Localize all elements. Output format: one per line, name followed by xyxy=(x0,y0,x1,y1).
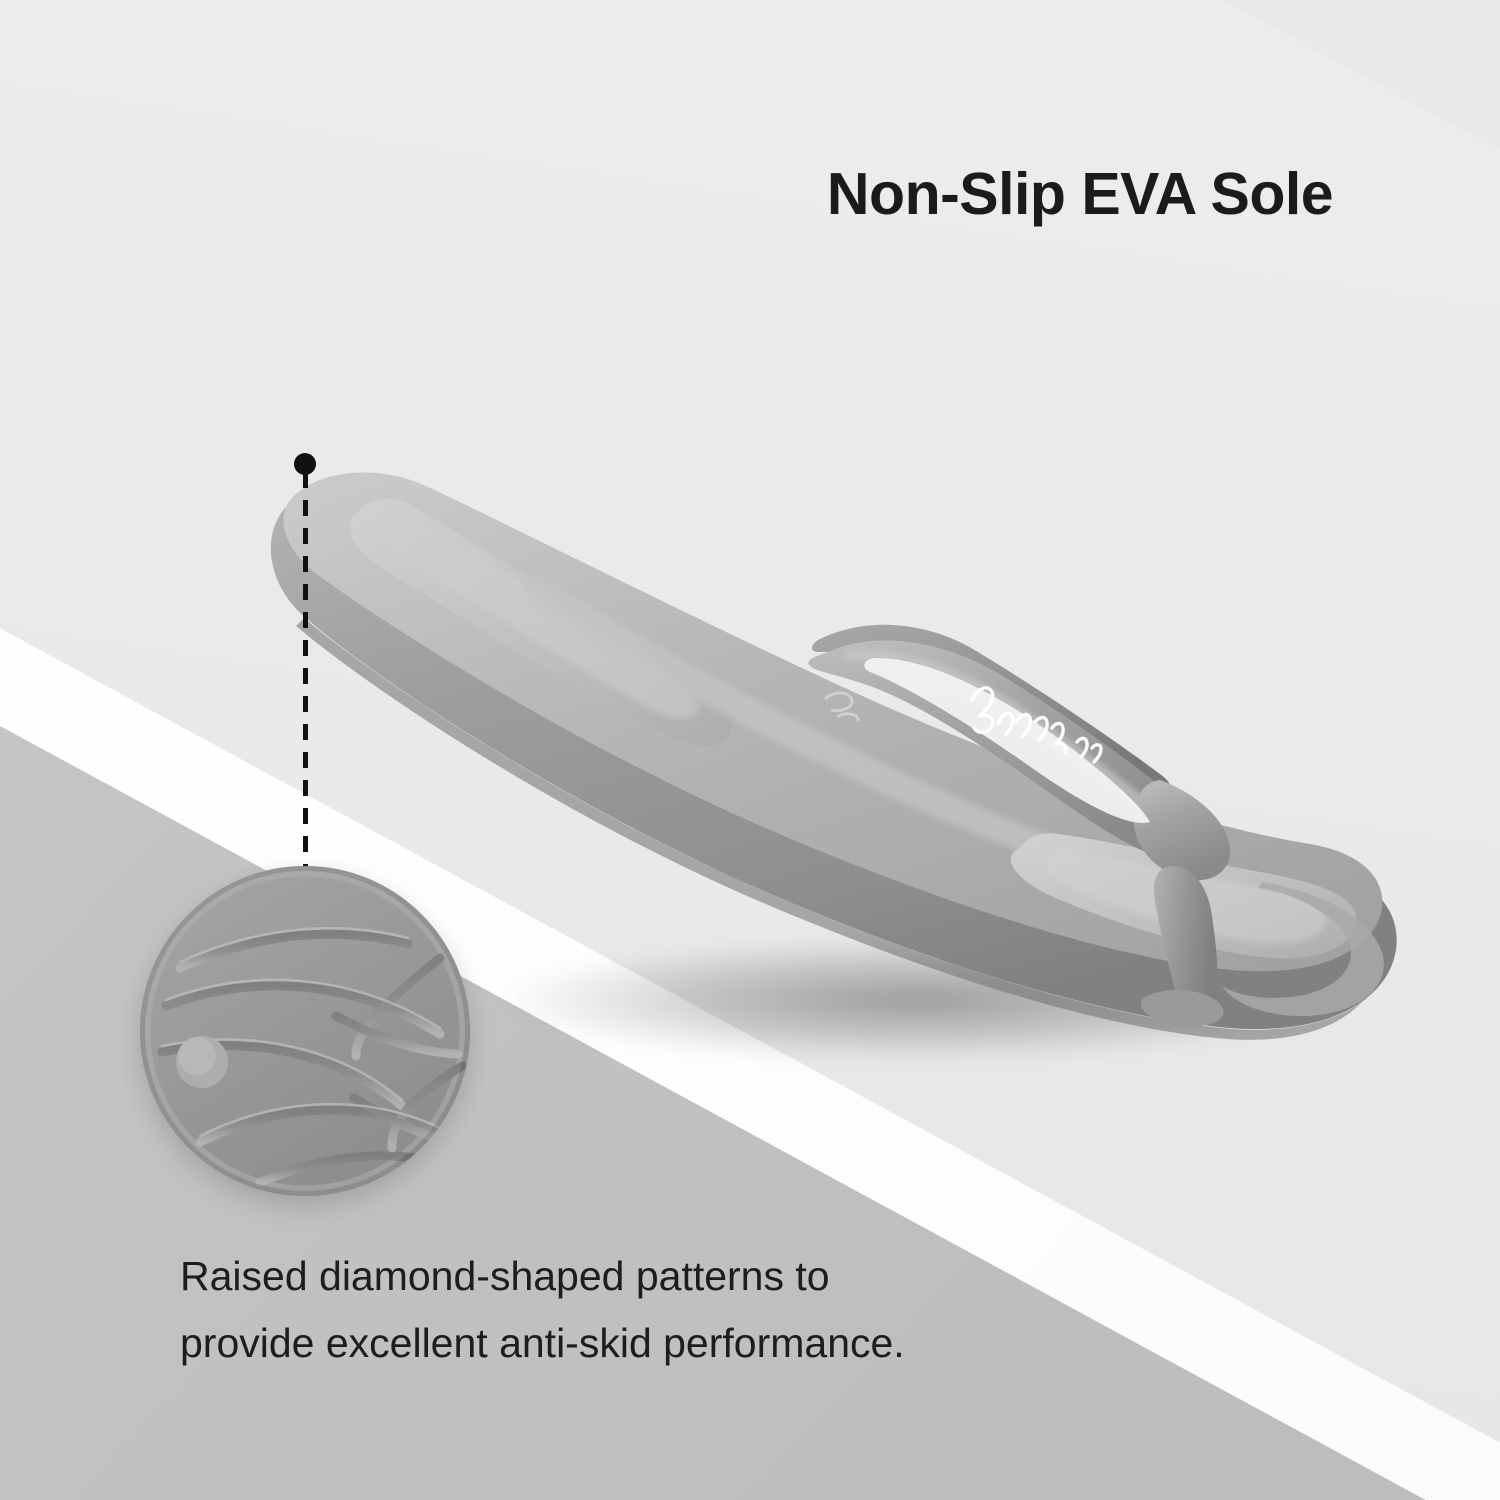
tread-nub-highlight xyxy=(178,1037,216,1075)
caption-line-1: Raised diamond-shaped patterns to xyxy=(180,1243,1100,1310)
caption-line-2: provide excellent anti-skid performance. xyxy=(180,1310,1100,1377)
callout-leader-line xyxy=(303,472,308,872)
page-title: Non-Slip EVA Sole xyxy=(700,160,1460,228)
feature-caption: Raised diamond-shaped patterns to provid… xyxy=(180,1243,1100,1377)
product-feature-image: Non-Slip EVA Sole xyxy=(0,0,1500,1500)
tread-detail-circle xyxy=(140,866,470,1196)
